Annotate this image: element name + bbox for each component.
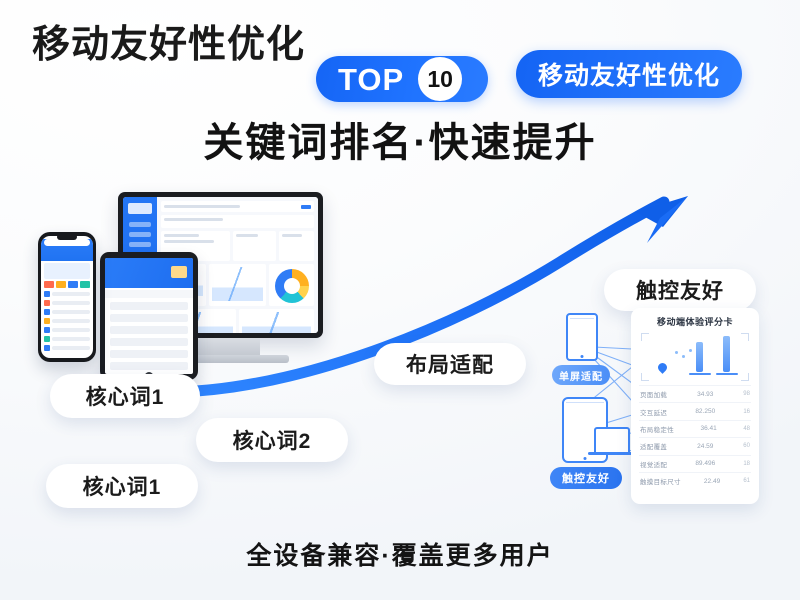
- keyword-pill-2[interactable]: 核心词2: [196, 418, 348, 462]
- table-row: 页面加载 34.93 98: [639, 385, 751, 402]
- stage-pill-layout[interactable]: 布局适配: [374, 343, 526, 385]
- laptop-base: [588, 452, 632, 455]
- diagram-pill-single-screen: 单屏适配: [552, 365, 610, 385]
- tablet-mockup: [100, 252, 198, 380]
- mobile-score-card: 移动端体验评分卡 页面加载 34.93 98: [631, 308, 759, 504]
- keyword-pill-1[interactable]: 核心词1: [50, 374, 200, 418]
- diagram-pill-touch-friendly: 触控友好: [550, 467, 622, 489]
- laptop-icon: [594, 427, 630, 455]
- device-mockups: [22, 192, 322, 402]
- poster-canvas: 移动友好性优化 TOP 10 移动友好性优化 关键词排名·快速提升: [0, 0, 800, 600]
- score-card-rows: 页面加载 34.93 98 交互延迟 82.250 16 布局稳定性 36.41…: [639, 385, 751, 489]
- score-card-graph: [641, 333, 749, 381]
- table-row: 适配覆盖 24.59 60: [639, 437, 751, 454]
- score-card-title: 移动端体验评分卡: [639, 315, 751, 328]
- phone-notch: [57, 234, 77, 240]
- table-row: 布局稳定性 36.41 48: [639, 420, 751, 437]
- table-row: 触摸目标尺寸 22.49 61: [639, 472, 751, 489]
- mobile-experience-diagram: 单屏适配 触控友好 移动端体验评分卡: [548, 305, 763, 510]
- table-row: 交互延迟 82.250 16: [639, 402, 751, 419]
- phone-small-icon: [566, 313, 598, 361]
- location-pin-icon: [656, 361, 669, 374]
- phone-mockup: [38, 232, 96, 362]
- table-row: 视觉适配 89.496 18: [639, 455, 751, 472]
- footer-tagline: 全设备兼容·覆盖更多用户: [0, 536, 800, 572]
- donut-chart: [275, 269, 309, 303]
- phone-search-bar: [44, 239, 90, 246]
- keyword-pill-3[interactable]: 核心词1: [46, 464, 198, 508]
